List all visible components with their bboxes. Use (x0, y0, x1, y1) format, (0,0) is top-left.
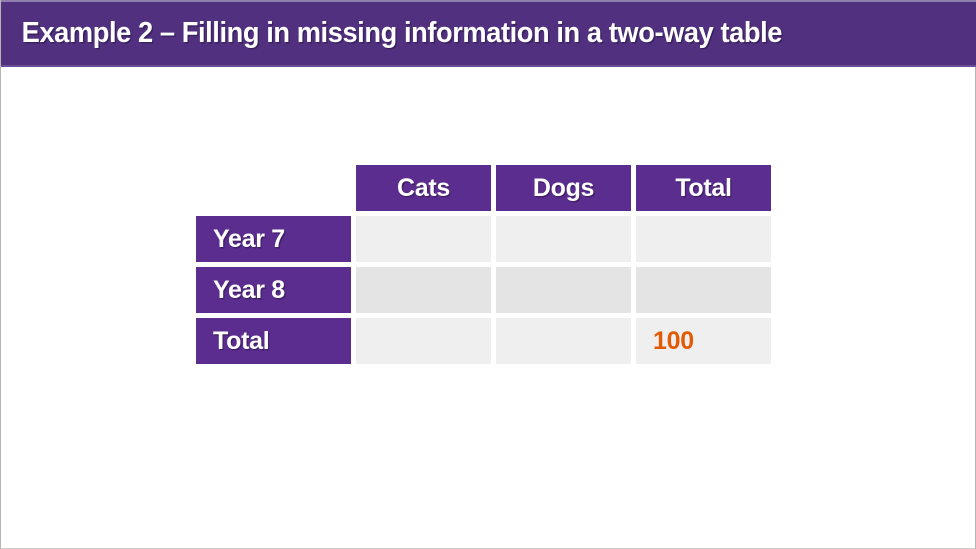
title-banner: Example 2 – Filling in missing informati… (1, 0, 976, 67)
row-header-year-7: Year 7 (196, 216, 351, 262)
column-header-total: Total (636, 165, 771, 211)
table-header-row: Cats Dogs Total (196, 165, 771, 211)
table-row-year-7: Year 7 (196, 216, 771, 262)
cell-year7-total[interactable] (636, 216, 771, 262)
row-header-year-8: Year 8 (196, 267, 351, 313)
slide-canvas: Example 2 – Filling in missing informati… (0, 0, 976, 549)
table-row-total: Total 100 (196, 318, 771, 364)
cell-total-cats[interactable] (356, 318, 491, 364)
column-header-cats: Cats (356, 165, 491, 211)
cell-year8-total[interactable] (636, 267, 771, 313)
row-header-total: Total (196, 318, 351, 364)
cell-year7-dogs[interactable] (496, 216, 631, 262)
cell-total-dogs[interactable] (496, 318, 631, 364)
table-corner-cell (196, 165, 351, 211)
two-way-table: Cats Dogs Total Year 7 Year 8 Total (191, 160, 776, 369)
cell-year8-cats[interactable] (356, 267, 491, 313)
column-header-dogs: Dogs (496, 165, 631, 211)
table-row-year-8: Year 8 (196, 267, 771, 313)
cell-year7-cats[interactable] (356, 216, 491, 262)
table-body: Year 7 Year 8 Total 100 (196, 216, 771, 364)
cell-year8-dogs[interactable] (496, 267, 631, 313)
page-title: Example 2 – Filling in missing informati… (1, 17, 782, 50)
cell-total-total[interactable]: 100 (636, 318, 771, 364)
table-head: Cats Dogs Total (196, 165, 771, 211)
